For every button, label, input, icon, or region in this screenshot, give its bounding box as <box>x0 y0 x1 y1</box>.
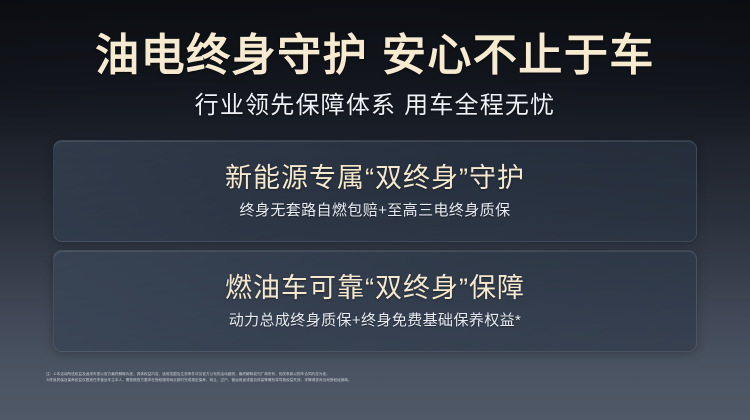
page-title: 油电终身守护 安心不止于车 <box>0 30 750 82</box>
benefit-card-description: 动力总成终身质保+终身免费基础保养权益* <box>229 311 522 331</box>
headline-block: 油电终身守护 安心不止于车 行业领先保障体系 用车全程无忧 <box>0 0 750 121</box>
benefit-card-fuel-vehicle[interactable]: 燃油车可靠“双终身”保障 动力总成终身质保+终身免费基础保养权益* <box>53 250 697 352</box>
promo-poster: 油电终身守护 安心不止于车 行业领先保障体系 用车全程无忧 新能源专属“双终身”… <box>0 0 750 420</box>
legal-disclaimer-line-2: ②终身质保及保养权益仅限首任非营运车主本人，需按照官方要求在授权服务网点按时完成… <box>46 377 704 383</box>
benefit-card-description: 终身无套路自燃包赔+至高三电终身质保 <box>240 201 511 221</box>
benefit-card-title: 新能源专属“双终身”守护 <box>225 161 525 195</box>
benefit-card-new-energy[interactable]: 新能源专属“双终身”守护 终身无套路自燃包赔+至高三电终身质保 <box>53 140 697 242</box>
page-subtitle: 行业领先保障体系 用车全程无忧 <box>0 91 750 121</box>
legal-disclaimer: 注：①本活动所述权益及适用车型以官方最终解释为准，具体权益内容、适用范围及生效条… <box>46 371 704 383</box>
benefit-card-list: 新能源专属“双终身”守护 终身无套路自燃包赔+至高三电终身质保 燃油车可靠“双终… <box>53 140 697 352</box>
benefit-card-title: 燃油车可靠“双终身”保障 <box>225 271 525 305</box>
